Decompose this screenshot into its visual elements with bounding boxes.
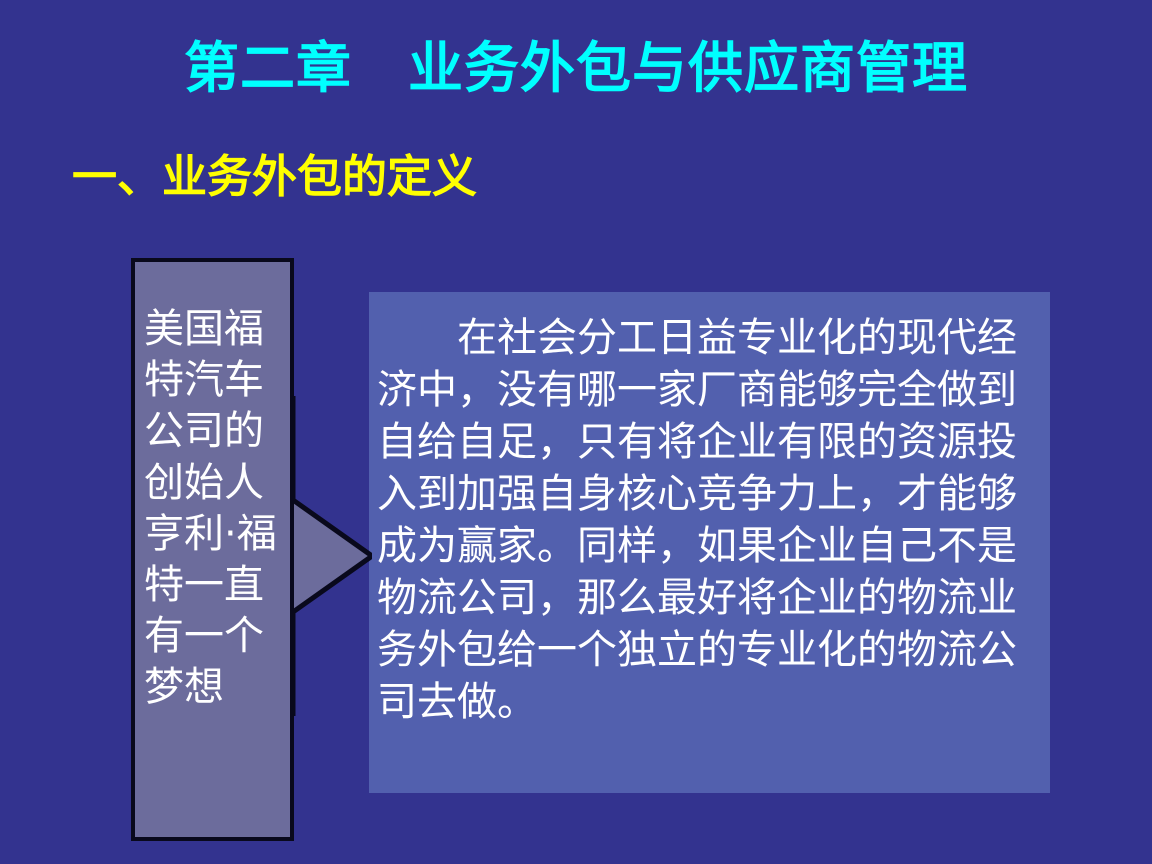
definition-paragraph: 在社会分工日益专业化的现代经济中，没有哪一家厂商能够完全做到自给自足，只有将企业… — [377, 312, 1043, 728]
ford-caption-text: 美国福特汽车公司的创始人亨利·福特一直有一个梦想 — [144, 304, 284, 714]
slide-canvas: 第二章 业务外包与供应商管理 一、业务外包的定义 在社会分工日益专业化的现代经济… — [0, 0, 1152, 864]
ford-caption-box: 美国福特汽车公司的创始人亨利·福特一直有一个梦想 — [131, 258, 294, 841]
section-heading: 一、业务外包的定义 — [72, 152, 477, 202]
page-title: 第二章 业务外包与供应商管理 — [0, 38, 1152, 99]
definition-text-box: 在社会分工日益专业化的现代经济中，没有哪一家厂商能够完全做到自给自足，只有将企业… — [369, 292, 1050, 793]
